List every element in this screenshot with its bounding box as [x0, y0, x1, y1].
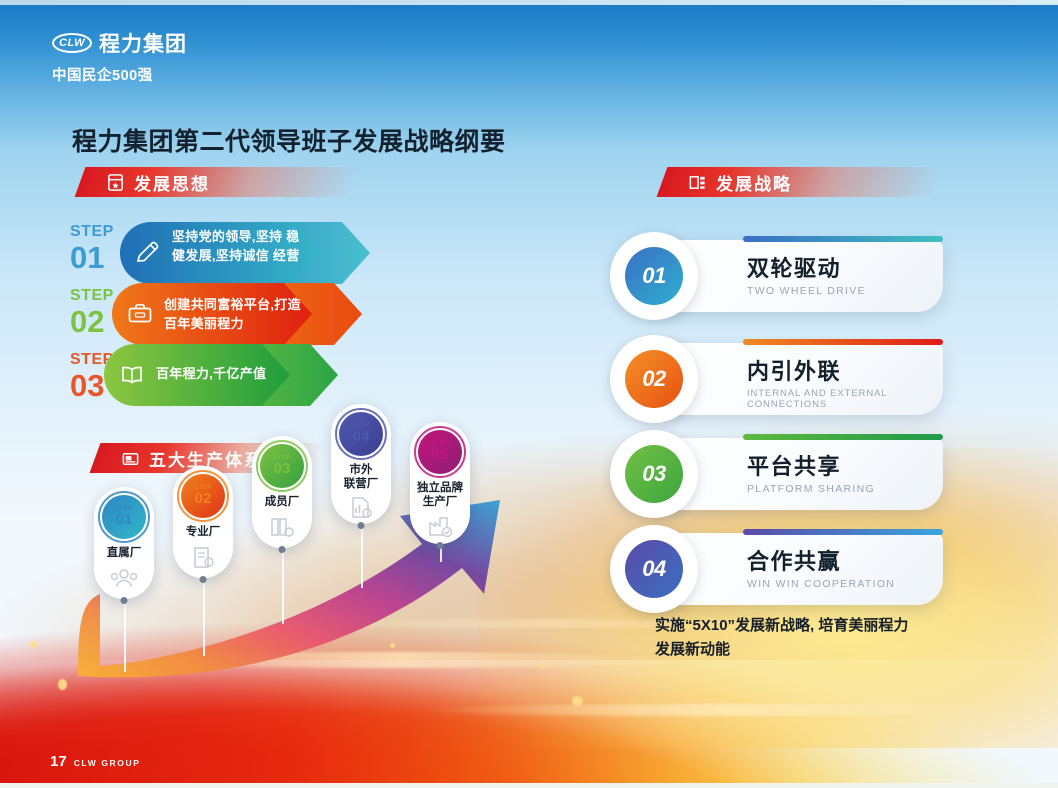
- pill-name: 直属厂: [107, 546, 142, 560]
- pill-step-word: STEP: [273, 455, 290, 461]
- pill-stem: [124, 600, 126, 672]
- strategy-card-02[interactable]: 02 内引外联 INTERNAL AND EXTERNAL CONNECTION…: [655, 343, 943, 415]
- pill-connector-dot: [437, 542, 444, 549]
- pill-connector-dot: [121, 597, 128, 604]
- card-title-en: TWO WHEEL DRIVE: [747, 285, 866, 297]
- pill-step-number: 04: [353, 429, 370, 446]
- pencil-icon: [134, 238, 162, 266]
- section-header-strategy: 发展战略: [662, 167, 962, 197]
- thought-arrow-02: 创建共同富裕平台,打造 百年美丽程力: [112, 283, 362, 345]
- pill-step-word: STEP: [352, 423, 369, 429]
- pill-name: 市外 联营厂: [344, 463, 379, 492]
- strategy-card-01[interactable]: 01 双轮驱动 TWO WHEEL DRIVE: [655, 240, 943, 312]
- card-title-en: PLATFORM SHARING: [747, 483, 875, 495]
- pill-name: 成员厂: [265, 495, 300, 509]
- card-number-circle: 02: [610, 335, 698, 423]
- card-number: 04: [625, 540, 683, 598]
- clw-logo-mark: CLW: [52, 33, 92, 53]
- thought-arrow-01: 坚持党的领导,坚持 稳健发展,坚持诚信 经营: [120, 222, 370, 284]
- card-number: 02: [625, 350, 683, 408]
- section-label: 发展战略: [716, 170, 792, 195]
- card-number: 01: [625, 247, 683, 305]
- top-edge-band: [0, 0, 1058, 5]
- step-label-01: STEP 01: [70, 224, 114, 273]
- card-number-circle: 03: [610, 430, 698, 518]
- pill-step-number: 02: [195, 491, 212, 508]
- pill-connector-dot: [279, 546, 286, 553]
- brand-name: 程力集团: [99, 28, 187, 58]
- strategy-card-04[interactable]: 04 合作共赢 WIN WIN COOPERATION: [655, 533, 943, 605]
- pill-step-word: STEP: [194, 485, 211, 491]
- pill-connector-dot: [200, 576, 207, 583]
- pill-stem: [203, 578, 205, 656]
- people-group-icon: [109, 566, 139, 592]
- arrow-text: 坚持党的领导,坚持 稳健发展,坚持诚信 经营: [172, 228, 302, 266]
- certificate-icon: [188, 545, 218, 571]
- step-number: 01: [70, 242, 114, 273]
- pill-badge: STEP 02: [181, 474, 225, 518]
- card-number-circle: 01: [610, 232, 698, 320]
- step-word: STEP: [70, 224, 114, 240]
- card-number-circle: 04: [610, 525, 698, 613]
- light-streak: [420, 704, 1040, 716]
- report-chart-icon: [346, 495, 376, 521]
- strategy-footnote: 实施“5X10”发展新战略, 培育美丽程力 发展新动能: [655, 614, 965, 662]
- brand-logo: CLW 程力集团 中国民企500强: [52, 28, 187, 85]
- pill-badge: STEP 03: [260, 444, 304, 488]
- page-number: 17: [50, 753, 67, 770]
- spark-dot: [30, 641, 37, 648]
- pill-step-number: 05: [432, 447, 449, 464]
- card-accent-bar: [743, 529, 943, 535]
- calendar-board-icon: [106, 173, 125, 192]
- pill-step-word: STEP: [115, 506, 132, 512]
- books-gear-icon: [267, 515, 297, 541]
- production-pill-05[interactable]: STEP 05 独立品牌 生产厂: [410, 422, 470, 544]
- arrow-text: 百年程力,千亿产值: [156, 365, 296, 384]
- pill-step-number: 03: [274, 461, 291, 478]
- production-pill-01[interactable]: STEP 01 直属厂: [94, 487, 154, 599]
- section-label: 发展思想: [134, 170, 210, 195]
- card-title-cn: 双轮驱动: [747, 251, 866, 283]
- spark-dot: [862, 735, 867, 740]
- step-number: 02: [70, 306, 114, 337]
- step-word: STEP: [70, 288, 114, 304]
- step-label-02: STEP 02: [70, 288, 114, 337]
- strategy-card-03[interactable]: 03 平台共享 PLATFORM SHARING: [655, 438, 943, 510]
- production-pill-03[interactable]: STEP 03 成员厂: [252, 436, 312, 548]
- pill-badge: STEP 01: [102, 495, 146, 539]
- card-title-cn: 内引外联: [747, 354, 943, 386]
- production-pill-02[interactable]: STEP 02 专业厂: [173, 466, 233, 578]
- card-accent-bar: [743, 236, 943, 242]
- archive-box-icon: [121, 449, 140, 468]
- slide-footer: 17 CLW GROUP: [50, 753, 141, 770]
- section-header-thought: 发展思想: [80, 167, 380, 197]
- pill-badge: STEP 05: [418, 430, 462, 474]
- factory-check-icon: [425, 514, 455, 540]
- pill-name: 专业厂: [186, 525, 221, 539]
- page-title: 程力集团第二代领导班子发展战略纲要: [72, 122, 506, 158]
- footer-brand: CLW GROUP: [74, 758, 141, 768]
- spark-dot: [572, 696, 583, 706]
- arrow-text: 创建共同富裕平台,打造 百年美丽程力: [164, 296, 304, 334]
- card-title-en: WIN WIN COOPERATION: [747, 578, 895, 590]
- thought-arrow-03: 百年程力,千亿产值: [104, 344, 338, 406]
- card-number: 03: [625, 445, 683, 503]
- list-board-icon: [688, 173, 707, 192]
- bottom-edge-band: [0, 783, 1058, 788]
- card-accent-bar: [743, 434, 943, 440]
- spark-dot: [58, 679, 67, 690]
- book-icon: [118, 361, 146, 389]
- slide-canvas: CLW 程力集团 中国民企500强 程力集团第二代领导班子发展战略纲要 发展思想…: [0, 0, 1058, 788]
- card-accent-bar: [743, 339, 943, 345]
- card-title-cn: 合作共赢: [747, 544, 895, 576]
- pill-stem: [282, 546, 284, 624]
- briefcase-icon: [126, 300, 154, 328]
- pill-step-word: STEP: [431, 441, 448, 447]
- pill-name: 独立品牌 生产厂: [417, 481, 463, 510]
- pill-connector-dot: [358, 522, 365, 529]
- card-title-en: INTERNAL AND EXTERNAL CONNECTIONS: [747, 388, 943, 410]
- pill-step-number: 01: [116, 512, 133, 529]
- production-pill-04[interactable]: STEP 04 市外 联营厂: [331, 404, 391, 524]
- brand-subtitle: 中国民企500强: [52, 64, 187, 85]
- pill-badge: STEP 04: [339, 412, 383, 456]
- card-title-cn: 平台共享: [747, 449, 875, 481]
